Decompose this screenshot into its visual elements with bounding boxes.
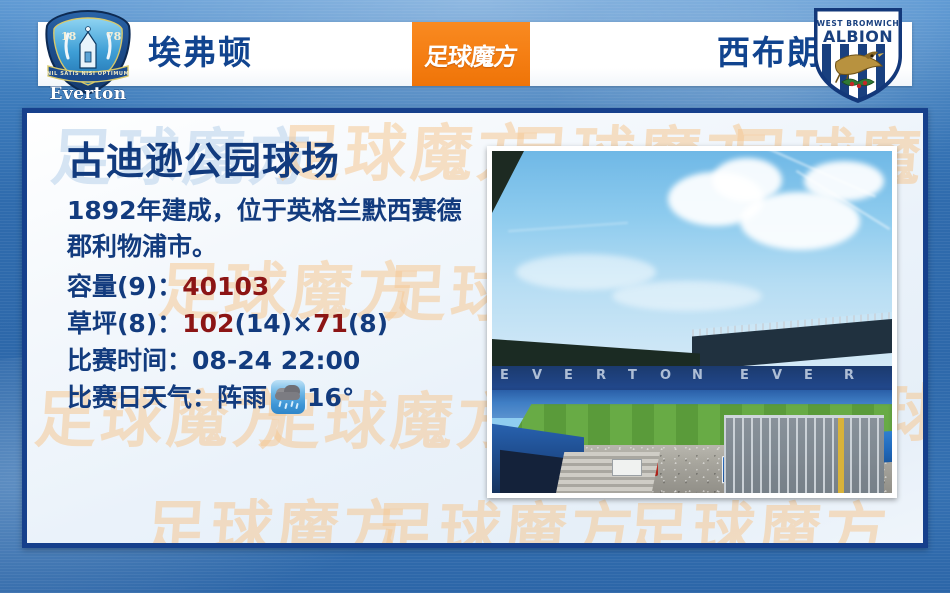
pitch-length-rating: (14) (234, 309, 292, 338)
stand-letter: R (596, 368, 607, 383)
capacity-label: 容量(9) (67, 272, 157, 301)
match-time-label: 比赛时间 (67, 346, 167, 375)
goodison-park-stadium-photo: E V E R T O N E V E R (492, 151, 892, 493)
stand-letter: V (532, 368, 543, 383)
weather-temperature: 16° (307, 379, 354, 416)
rain-shower-icon (271, 380, 305, 414)
stand-letter: T (628, 368, 638, 383)
stadium-description: 1892年建成，位于英格兰默西赛德郡利物浦市。 (67, 193, 467, 266)
stadium-details: 古迪逊公园球场 1892年建成，位于英格兰默西赛德郡利物浦市。 容量(9)：40… (67, 141, 497, 416)
pitch-separator: ： (157, 309, 182, 338)
cloud (612, 281, 762, 311)
pitch-length-value: 102 (182, 309, 234, 338)
match-time-value: 08-24 22:00 (192, 346, 360, 375)
svg-text:Everton: Everton (50, 84, 127, 104)
metal-railing (724, 415, 884, 493)
crest-year-right: 78 (106, 30, 122, 43)
weather-separator: ： (192, 379, 217, 416)
stand-letter: E (500, 368, 510, 383)
home-team-name: 埃弗顿 (148, 26, 253, 74)
stand-letter: R (844, 368, 855, 383)
pitch-width-rating: (8) (348, 309, 388, 338)
everton-crest[interactable]: 18 78 NIL SATIS NISI OPTIMUM Everton (34, 4, 142, 104)
pitch-multiply-sign: × (292, 309, 313, 338)
weather-condition: 阵雨 (217, 379, 267, 416)
watermark: 足球魔方 (142, 479, 412, 543)
site-logo-text: 足球魔方 (423, 37, 519, 72)
weather-label: 比赛日天气 (67, 379, 192, 416)
site-logo[interactable]: 足球魔方 (412, 22, 530, 86)
capacity-value: 40103 (182, 272, 269, 301)
crest-year-left: 18 (61, 30, 77, 43)
stand-letter: E (804, 368, 814, 383)
match-preview-card: 18 78 NIL SATIS NISI OPTIMUM Everton 埃弗顿… (0, 0, 950, 593)
match-time-separator: ： (167, 346, 192, 375)
stand-letter: V (772, 368, 783, 383)
stadium-info-panel: 足球魔方 足球魔方 足球魔方 足球魔方 足球魔方 足球魔方 足球魔方 足球魔方 … (22, 108, 928, 548)
stadium-title: 古迪逊公园球场 (67, 141, 497, 183)
match-time-row: 比赛时间：08-24 22:00 (67, 342, 497, 379)
notice-sign (612, 459, 642, 476)
weather-row: 比赛日天气：阵雨 16° (67, 379, 497, 416)
capacity-separator: ： (157, 272, 182, 301)
railing-post (838, 418, 844, 493)
stand-letter: E (564, 368, 574, 383)
capacity-row: 容量(9)：40103 (67, 268, 497, 305)
stadium-photo-frame[interactable]: E V E R T O N E V E R (487, 146, 897, 498)
crest-line2: ALBION (823, 27, 893, 46)
pitch-row: 草坪(8)：102(14)×71(8) (67, 305, 497, 342)
west-bromwich-albion-crest[interactable]: WEST BROMWICH ALBION (806, 4, 910, 104)
pitch-label: 草坪(8) (67, 309, 157, 338)
svg-text:NIL SATIS NISI OPTIMUM: NIL SATIS NISI OPTIMUM (47, 71, 129, 77)
concrete-steps (556, 452, 660, 493)
stand-letter: O (660, 368, 672, 383)
pitch-width-value: 71 (313, 309, 348, 338)
stand-letter: N (692, 368, 704, 383)
stand-letter: E (740, 368, 750, 383)
